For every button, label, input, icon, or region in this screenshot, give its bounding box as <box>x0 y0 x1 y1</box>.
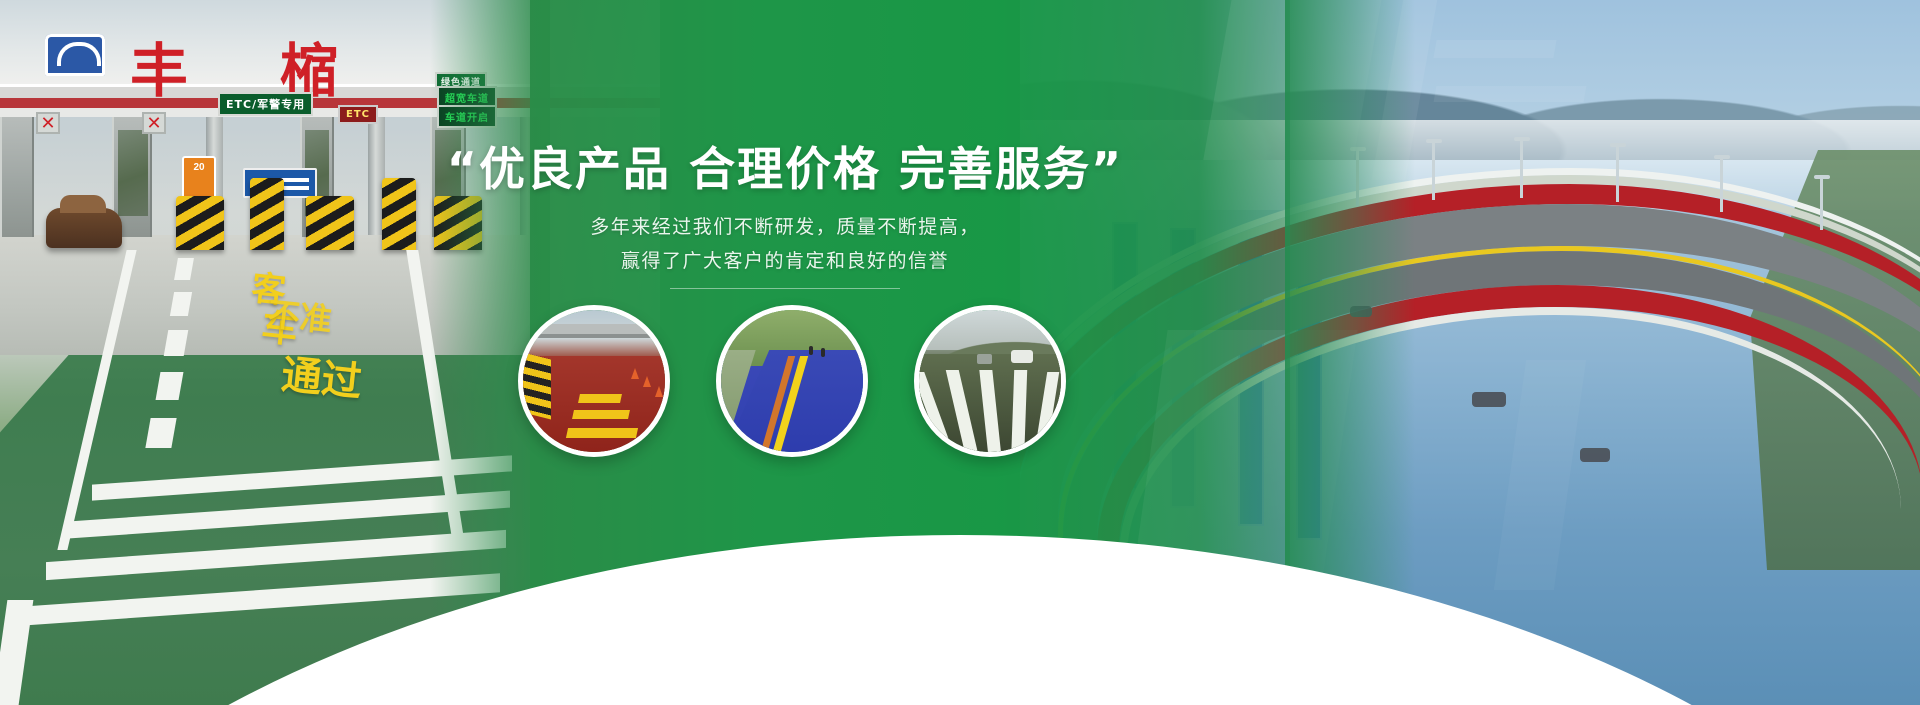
hero-banner: 丰 樎 ✕ ✕ ETC/军警专用 ETC 绿色通道 超宽车道 车道开启 20 客 <box>0 0 1920 705</box>
thumb-image <box>721 310 863 452</box>
thumb-image <box>523 310 665 452</box>
thumb-blue-bike-lane[interactable] <box>716 305 868 457</box>
pedestrian-icon <box>821 348 825 357</box>
banner-subline-1: 多年来经过我们不断研发，质量不断提高， <box>0 212 1570 239</box>
thumbnail-row <box>510 305 1080 485</box>
thumb-image <box>919 310 1061 452</box>
thumb-crosswalk[interactable] <box>914 305 1066 457</box>
toll-canopy <box>529 324 669 334</box>
copy-divider <box>670 288 900 289</box>
road-marking <box>566 428 638 438</box>
vehicle <box>977 354 992 364</box>
barrier-stripe <box>523 353 551 420</box>
banner-subline-2: 赢得了广大客户的肯定和良好的信誉 <box>0 246 1570 273</box>
road-marking <box>578 394 622 403</box>
banner-headline: “优良产品 合理价格 完善服务” <box>0 133 1570 199</box>
traffic-cone-icon <box>631 368 639 379</box>
pedestrian-icon <box>809 346 813 355</box>
traffic-cone-icon <box>655 386 663 397</box>
road-marking <box>572 410 630 419</box>
vehicle <box>1011 350 1033 363</box>
thumb-red-toll-road[interactable] <box>518 305 670 457</box>
traffic-cone-icon <box>643 376 651 387</box>
